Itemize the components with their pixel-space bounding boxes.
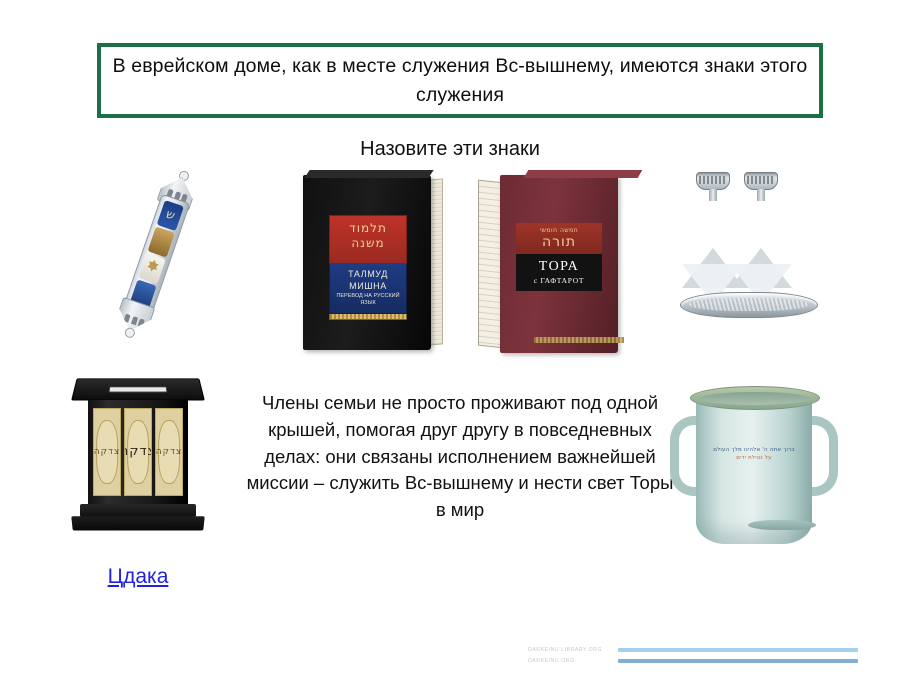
- book-hebrew-title: תלמוד: [332, 221, 404, 236]
- book-cover-black: תלמוד משנה ТАЛМУД МИШНА ПЕРЕВОД НА РУССК…: [303, 175, 431, 350]
- book-latin-line1: ТАЛМУД: [332, 268, 404, 281]
- torah-hebrew-big: תורה: [518, 234, 600, 250]
- torah-label-group: חמשה חומשי תורה ТОРА с ГАФТАРОТ: [516, 223, 602, 291]
- torah-book-image: חמשה חומשי תורה ТОРА с ГАФТАРОТ: [478, 175, 626, 353]
- book-hebrew-note: [332, 251, 404, 259]
- tzedakah-oval-right: צדקה: [158, 420, 180, 484]
- tzedakah-panel-left: צדקה: [93, 408, 121, 496]
- torah-hebrew-small: חמשה חומשי: [518, 227, 600, 234]
- cup-foot: [748, 520, 816, 530]
- torah-top-edge: [524, 170, 643, 178]
- candle-stem-left: [709, 189, 717, 201]
- watermark-row-2: DARKEINU.ORG: [528, 655, 858, 666]
- tzedakah-base-lower: [71, 516, 205, 530]
- mezuzah-panel-gold: [147, 226, 174, 257]
- torah-label-hebrew: חמשה חומשי תורה: [516, 223, 602, 254]
- torah-russian-subtitle: с ГАФТАРОТ: [518, 276, 600, 285]
- watermark-text-1: DARKEINU LIBRARY.ORG: [528, 647, 612, 653]
- tzedakah-hebrew-side: צדקה: [94, 447, 121, 457]
- mezuzah-case-icon: ש: [114, 172, 199, 336]
- mezuzah-body: ש: [123, 194, 190, 317]
- mezuzah-image: ש: [108, 163, 204, 345]
- torah-cover-red: חמשה חומשי תורה ТОРА с ГАФТАРОТ: [500, 175, 618, 353]
- tzedakah-oval-front: צדקה: [127, 420, 149, 484]
- candle-bowl-left: [696, 172, 730, 190]
- tzedakah-hebrew-side-2: צדקה: [156, 447, 183, 457]
- book-top-edge: [304, 170, 433, 178]
- cup-blessing-line1: ברוך אתה ה' אלהינו מלך העולם: [704, 446, 804, 454]
- cup-body: [696, 394, 812, 544]
- coin-slot: [109, 386, 168, 392]
- tzedakah-panel-front: צדקה: [124, 408, 152, 496]
- watermark-text-2: DARKEINU.ORG: [528, 658, 612, 664]
- torah-foot-strip: [534, 337, 624, 343]
- tzedakah-panel-right: צדקה: [155, 408, 183, 496]
- tzedakah-link[interactable]: Цдака: [68, 565, 208, 589]
- candle-cup-left: [696, 172, 730, 198]
- book-latin-note: ПЕРЕВОД НА РУССКИЙ ЯЗЫК: [336, 293, 399, 307]
- cup-rim: [690, 386, 820, 410]
- watermark-bar-light: [618, 648, 858, 652]
- book-latin-line2: МИШНА: [332, 280, 404, 293]
- tzedakah-oval-left: צדקה: [96, 420, 118, 484]
- book-label-hebrew: תלמוד משנה: [329, 215, 407, 264]
- tzedakah-base-upper: [80, 504, 196, 517]
- tzedakah-box-image: צדקה צדקה צדקה: [68, 376, 208, 544]
- page-title: В еврейском доме, как в месте служения В…: [111, 52, 809, 109]
- cup-blessing-line2: על נטילת ידים: [704, 454, 804, 462]
- cup-blessing-text: ברוך אתה ה' אלהינו מלך העולם על נטילת יד…: [704, 446, 804, 463]
- body-paragraph: Члены семьи не просто проживают под одно…: [245, 390, 675, 524]
- torah-label-russian: ТОРА с ГАФТАРОТ: [516, 254, 602, 291]
- washing-cup-image: ברוך אתה ה' אלהינו מלך העולם על נטילת יד…: [668, 382, 840, 562]
- candle-bowl-right: [744, 172, 778, 190]
- title-banner: В еврейском доме, как в месте служения В…: [97, 43, 823, 118]
- mezuzah-dots-bottom: [123, 313, 145, 328]
- shabbat-candlesticks-image: [668, 168, 828, 318]
- watermark-row-1: DARKEINU LIBRARY.ORG: [528, 644, 858, 655]
- tzedakah-body: צדקה צדקה צדקה: [88, 400, 188, 504]
- tzedakah-lid: [71, 378, 205, 400]
- book-label-latin: ТАЛМУД МИШНА ПЕРЕВОД НА РУССКИЙ ЯЗЫК: [329, 264, 407, 315]
- book-gold-strip: [329, 314, 407, 320]
- torah-russian-title: ТОРА: [518, 259, 600, 275]
- book-label-group: תלמוד משנה ТАЛМУД МИШНА ПЕРЕВОД НА РУССК…: [329, 215, 407, 320]
- candlestick-tray: [680, 292, 818, 318]
- talmud-mishna-book-image: תלמוד משנה ТАЛМУД МИШНА ПЕРЕВОД НА РУССК…: [303, 175, 443, 350]
- book-hebrew-subtitle: משנה: [332, 236, 404, 251]
- slide-canvas: В еврейском доме, как в месте служения В…: [0, 0, 900, 675]
- watermark: DARKEINU LIBRARY.ORG DARKEINU.ORG: [528, 644, 858, 670]
- tzedakah-hebrew-front: צדקה: [124, 445, 152, 460]
- candle-cup-right: [744, 172, 778, 198]
- mezuzah-ring-bottom: [124, 326, 137, 339]
- subtitle-prompt: Назовите эти знаки: [0, 138, 900, 161]
- candle-stem-right: [757, 189, 765, 201]
- watermark-bar-dark: [618, 659, 858, 663]
